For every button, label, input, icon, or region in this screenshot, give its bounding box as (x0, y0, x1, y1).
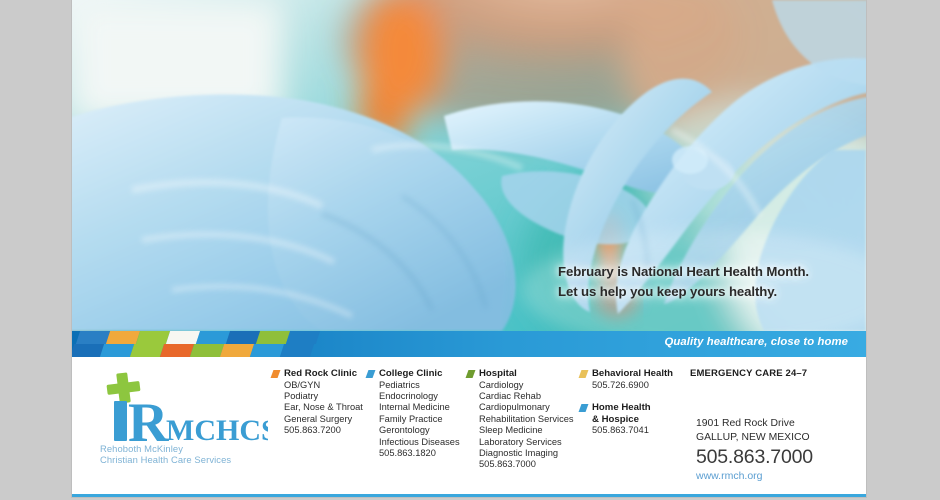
service-item: Infectious Diseases (379, 437, 460, 448)
bullet-icon (366, 370, 376, 378)
info-panel: R MCHCS Rehoboth McKinley Christian Heal… (72, 357, 866, 497)
bullet-icon (579, 404, 589, 412)
address-block: 1901 Red Rock Drive GALLUP, NEW MEXICO 5… (690, 417, 860, 483)
service-column-red-rock-clinic: Red Rock Clinic OB/GYN Podiatry Ear, Nos… (284, 368, 363, 437)
service-item: Ear, Nose & Throat (284, 402, 363, 413)
color-tile (160, 344, 194, 357)
color-tiles (72, 331, 412, 357)
color-tile (196, 331, 230, 344)
service-item: Pediatrics (379, 380, 460, 391)
color-tile (76, 331, 110, 344)
contact-block: EMERGENCY CARE 24–7 1901 Red Rock Drive … (690, 368, 860, 483)
logo-subtitle-line-2: Christian Health Care Services (100, 454, 272, 465)
column-title: Red Rock Clinic (284, 368, 363, 380)
address-line-2: GALLUP, NEW MEXICO (696, 431, 860, 445)
service-item: Internal Medicine (379, 402, 460, 413)
column-phone[interactable]: 505.863.7041 (592, 425, 673, 436)
column-title: College Clinic (379, 368, 460, 380)
service-item: Podiatry (284, 391, 363, 402)
color-tile (190, 344, 224, 357)
service-item: Sleep Medicine (479, 425, 574, 436)
service-item: General Surgery (284, 414, 363, 425)
hero-caption: February is National Heart Health Month.… (558, 262, 858, 302)
color-tile (166, 331, 200, 344)
color-tile (130, 344, 164, 357)
service-column-behavioral-home: Behavioral Health 505.726.6900 Home Heal… (592, 368, 673, 437)
service-item: OB/GYN (284, 380, 363, 391)
service-item: Family Practice (379, 414, 460, 425)
service-column-hospital: Hospital Cardiology Cardiac Rehab Cardio… (479, 368, 574, 471)
color-tile (220, 344, 254, 357)
color-tile (256, 331, 290, 344)
color-tile (100, 344, 134, 357)
column-title: Behavioral Health (592, 368, 673, 380)
service-item: Cardiac Rehab (479, 391, 574, 402)
website-link[interactable]: www.rmch.org (696, 469, 860, 483)
page-root: February is National Heart Health Month.… (0, 0, 940, 500)
svg-text:MCHCS: MCHCS (166, 414, 268, 443)
address-line-1: 1901 Red Rock Drive (696, 417, 860, 431)
logo-subtitle-line-1: Rehoboth McKinley (100, 443, 272, 454)
column-phone[interactable]: 505.863.7200 (284, 425, 363, 436)
advertisement-card: February is National Heart Health Month.… (72, 0, 866, 497)
service-item: Gerontology (379, 425, 460, 436)
service-item: Laboratory Services (479, 437, 574, 448)
color-tile (286, 331, 320, 344)
bullet-icon (579, 370, 589, 378)
column-phone[interactable]: 505.863.1820 (379, 448, 460, 459)
service-item: Cardiopulmonary (479, 402, 574, 413)
service-subgroup-home-health: Home Health & Hospice 505.863.7041 (592, 402, 673, 437)
service-item: Endocrinology (379, 391, 460, 402)
service-item: Diagnostic Imaging (479, 448, 574, 459)
column-title-line-1: Home Health (592, 402, 673, 414)
logo-block[interactable]: R MCHCS Rehoboth McKinley Christian Heal… (100, 371, 272, 466)
color-tile (226, 331, 260, 344)
column-title-line-2: & Hospice (592, 414, 673, 426)
bullet-icon (466, 370, 476, 378)
brand-tagline: Quality healthcare, close to home (665, 336, 848, 348)
column-phone[interactable]: 505.726.6900 (592, 380, 673, 391)
bullet-icon (271, 370, 281, 378)
main-phone-number[interactable]: 505.863.7000 (696, 445, 860, 469)
logo-subtitle: Rehoboth McKinley Christian Health Care … (100, 443, 272, 466)
hero-caption-line-1: February is National Heart Health Month. (558, 262, 858, 282)
color-tile (280, 344, 314, 357)
rmchcs-logo[interactable]: R MCHCS (100, 371, 268, 441)
brand-color-band: Quality healthcare, close to home (72, 331, 866, 357)
hero-caption-line-2: Let us help you keep yours healthy. (558, 282, 858, 302)
color-tile (106, 331, 140, 344)
service-column-college-clinic: College Clinic Pediatrics Endocrinology … (379, 368, 460, 459)
service-item: Cardiology (479, 380, 574, 391)
service-item: Rehabilitation Services (479, 414, 574, 425)
column-title: Hospital (479, 368, 574, 380)
svg-text:R: R (128, 392, 169, 443)
logo-svg: R MCHCS (100, 371, 268, 443)
color-tile (136, 331, 170, 344)
column-phone[interactable]: 505.863.7000 (479, 459, 574, 470)
emergency-care-label: EMERGENCY CARE 24–7 (690, 368, 860, 379)
color-tile (250, 344, 284, 357)
